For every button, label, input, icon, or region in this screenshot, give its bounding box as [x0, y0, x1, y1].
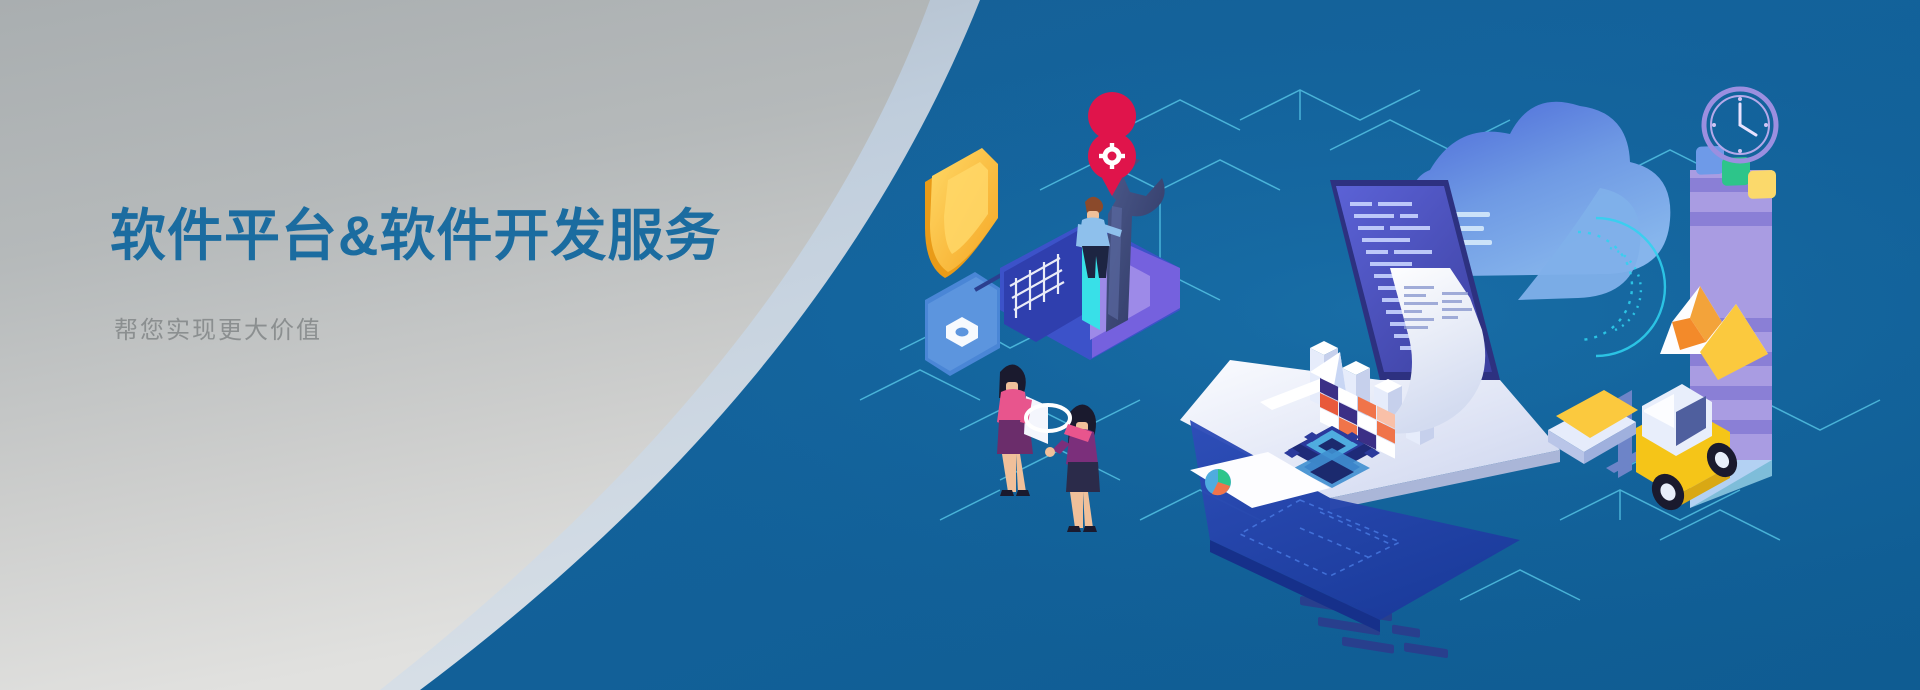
page-subtitle: 帮您实现更大价值 — [114, 310, 870, 345]
illustration-layer — [0, 0, 1920, 690]
hero-banner: 软件平台&软件开发服务 帮您实现更大价值 — [0, 0, 1920, 690]
shield-icon — [925, 148, 998, 278]
camera-icon — [925, 270, 1010, 376]
person-female-two-icon — [1045, 404, 1100, 532]
hero-text-block: 软件平台&软件开发服务 帮您实现更大价值 — [110, 205, 870, 345]
clock-icon — [1704, 89, 1776, 161]
gear-badge-icon — [1088, 92, 1136, 196]
page-title: 软件平台&软件开发服务 — [110, 205, 870, 268]
